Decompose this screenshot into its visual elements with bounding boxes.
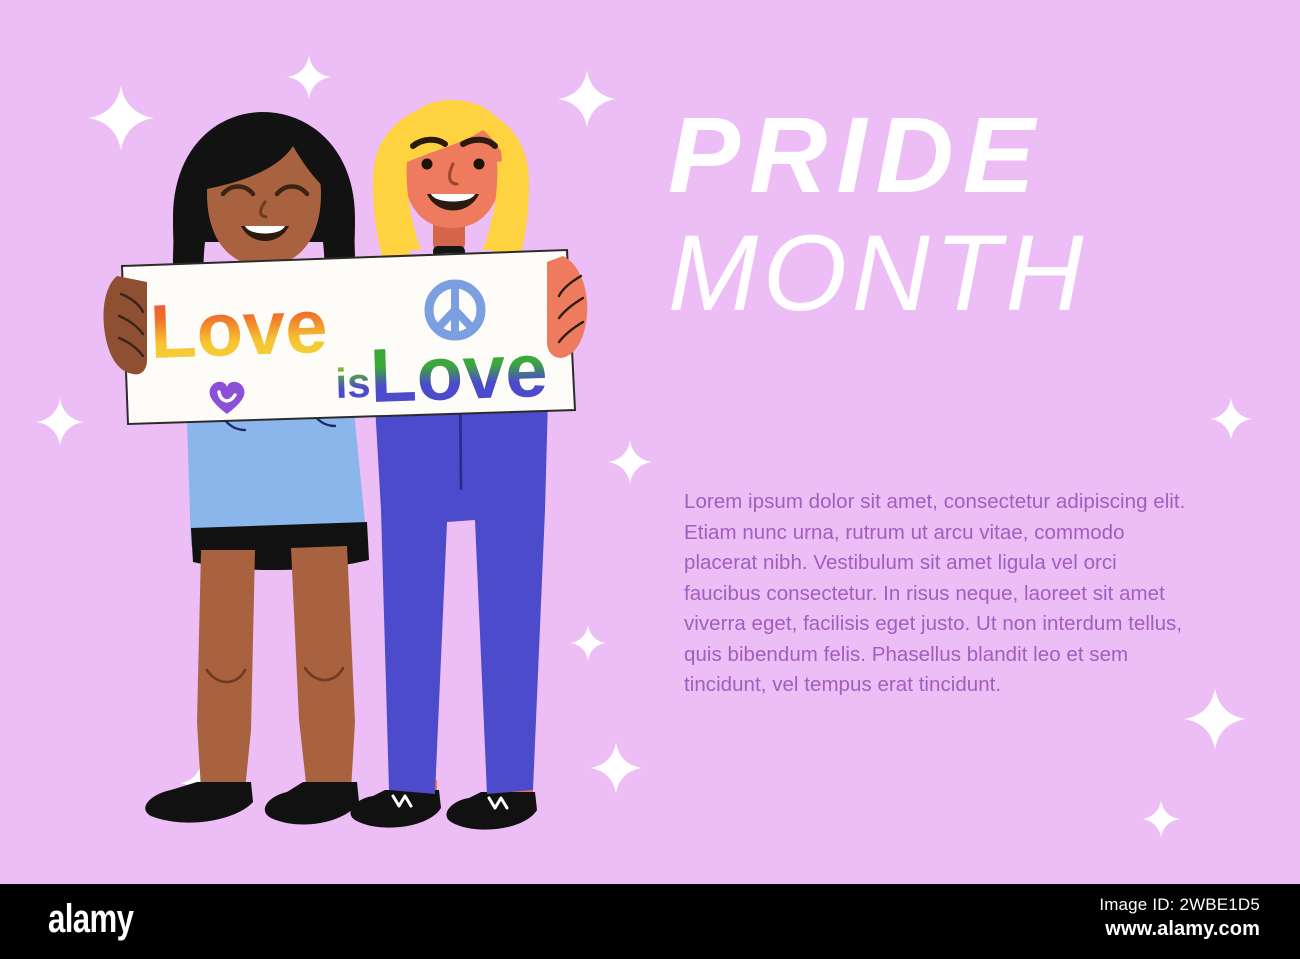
- alamy-footer-bar: alamy Image ID: 2WBE1D5 www.alamy.com: [0, 884, 1300, 959]
- alamy-logo: alamy: [48, 897, 133, 942]
- sneaker-left: [350, 790, 441, 828]
- footer-meta: Image ID: 2WBE1D5 www.alamy.com: [1099, 895, 1260, 941]
- image-id-label: Image ID: 2WBE1D5: [1099, 895, 1260, 915]
- eye-right: [474, 159, 485, 170]
- headline-line-1: PRIDE: [668, 103, 1228, 207]
- page-title: PRIDE MONTH: [668, 103, 1228, 324]
- protest-sign: Love: [104, 250, 588, 424]
- sparkle-star-icon: [1184, 688, 1246, 750]
- hand-right: [547, 256, 587, 358]
- sign-word-two: is: [335, 359, 372, 407]
- headline-line-2: MONTH: [668, 221, 1228, 325]
- pride-couple-illustration: Love: [55, 90, 635, 850]
- website-url-label: www.alamy.com: [1099, 918, 1260, 941]
- sparkle-star-icon: [1210, 398, 1252, 440]
- shoe-left: [145, 782, 253, 823]
- hand-left: [104, 276, 148, 374]
- sign-word-three: Love: [369, 328, 549, 419]
- person-left-figure: [129, 112, 369, 825]
- poster-canvas: PRIDE MONTH Lorem ipsum dolor sit amet, …: [0, 0, 1300, 884]
- person-right-figure: [350, 100, 573, 830]
- poster-stage: PRIDE MONTH Lorem ipsum dolor sit amet, …: [0, 0, 1300, 959]
- sparkle-star-icon: [1142, 800, 1180, 838]
- shoe-right: [265, 782, 359, 825]
- leg-right: [291, 546, 355, 792]
- sneaker-right: [446, 792, 537, 830]
- body-paragraph: Lorem ipsum dolor sit amet, consectetur …: [684, 487, 1192, 701]
- sign-word-one: Love: [149, 284, 329, 375]
- eye-left: [422, 159, 433, 170]
